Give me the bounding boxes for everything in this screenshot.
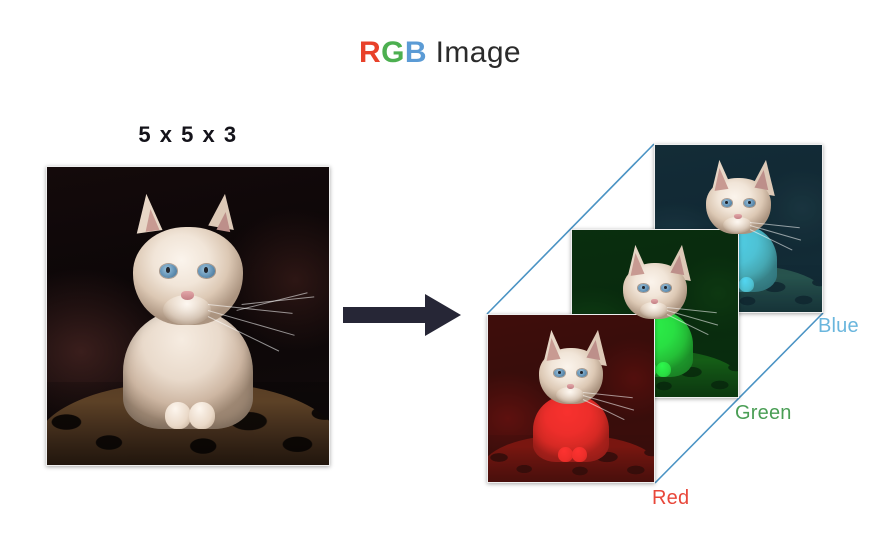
channel-label-green: Green xyxy=(735,402,792,425)
kitten-illustration xyxy=(47,167,329,465)
source-image xyxy=(46,166,330,466)
title-letter-r: R xyxy=(359,36,381,69)
kitten-whiskers xyxy=(47,167,329,465)
title-rest: Image xyxy=(427,36,521,69)
slide-canvas: RGB Image 5 x 5 x 3 xyxy=(0,0,880,534)
kitten-whiskers xyxy=(488,315,654,482)
transform-arrow xyxy=(343,292,461,343)
kitten-illustration-red xyxy=(488,315,654,482)
channel-label-blue: Blue xyxy=(818,315,859,338)
title-letter-g: G xyxy=(381,36,405,69)
title-letter-b: B xyxy=(405,36,427,69)
dimension-label: 5 x 5 x 3 xyxy=(46,122,330,148)
channel-label-red: Red xyxy=(652,487,689,510)
channel-image-red xyxy=(487,314,655,483)
page-title: RGB Image xyxy=(0,36,880,70)
